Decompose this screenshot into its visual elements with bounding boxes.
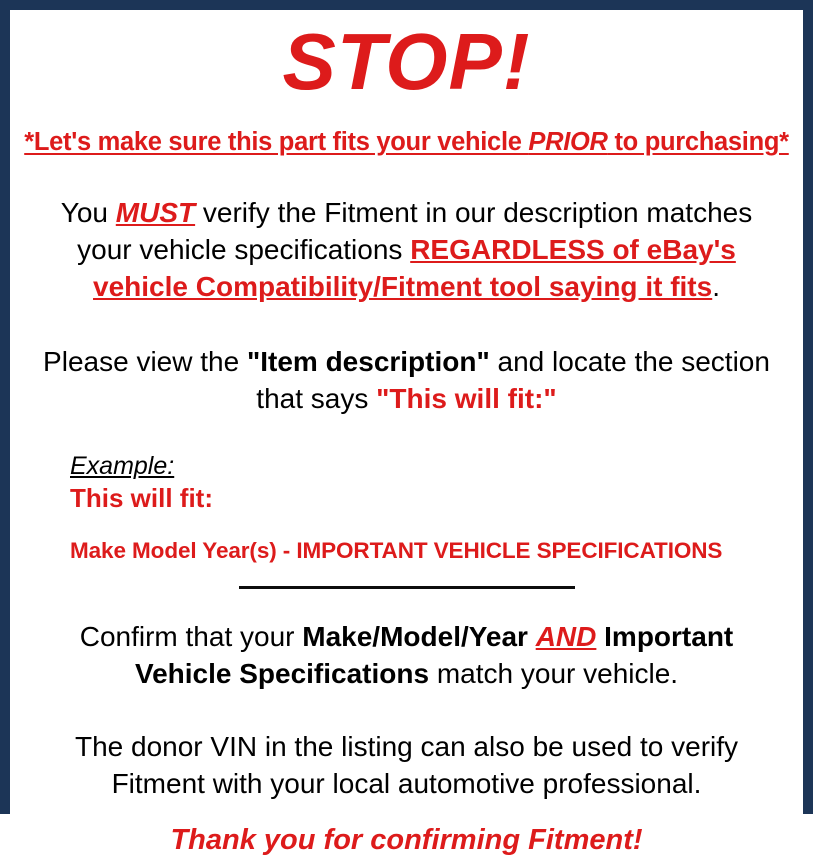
item-description-paragraph: Please view the "Item description" and l… xyxy=(24,344,789,418)
subtitle-line: *Let's make sure this part fits your veh… xyxy=(24,128,789,157)
confirm-paragraph-part1: Confirm that your xyxy=(80,621,303,652)
confirm-paragraph: Confirm that your Make/Model/Year AND Im… xyxy=(24,619,789,693)
subtitle-text-after: to purchasing* xyxy=(608,128,789,156)
must-paragraph-part3: . xyxy=(712,271,720,302)
notice-inner-panel: STOP! *Let's make sure this part fits yo… xyxy=(10,22,803,816)
example-label: Example: xyxy=(70,452,789,481)
confirm-paragraph-part2: match your vehicle. xyxy=(429,658,678,689)
view-paragraph-part1: Please view the xyxy=(43,346,247,377)
fitment-notice-banner: STOP! *Let's make sure this part fits yo… xyxy=(0,0,813,814)
example-block: Example: This will fit: Make Model Year(… xyxy=(24,452,789,564)
must-paragraph-part1: You xyxy=(61,197,116,228)
must-emphasis: MUST xyxy=(116,197,195,228)
thank-you-line: Thank you for confirming Fitment! xyxy=(24,823,789,857)
stop-headline: STOP! xyxy=(24,22,789,102)
make-model-year-emphasis: Make/Model/Year xyxy=(302,621,528,652)
subtitle-text-before: *Let's make sure this part fits your veh… xyxy=(24,128,528,156)
donor-vin-paragraph: The donor VIN in the listing can also be… xyxy=(24,729,789,803)
divider-wrapper xyxy=(24,586,789,589)
horizontal-divider xyxy=(239,586,575,589)
item-description-emphasis: "Item description" xyxy=(247,346,490,377)
example-this-will-fit-heading: This will fit: xyxy=(70,483,789,514)
and-emphasis: AND xyxy=(536,621,597,652)
must-verify-paragraph: You MUST verify the Fitment in our descr… xyxy=(24,195,789,306)
this-will-fit-emphasis: "This will fit:" xyxy=(376,383,557,414)
subtitle-prior-emphasis: PRIOR xyxy=(528,128,607,156)
example-spec-line: Make Model Year(s) - IMPORTANT VEHICLE S… xyxy=(70,538,789,564)
